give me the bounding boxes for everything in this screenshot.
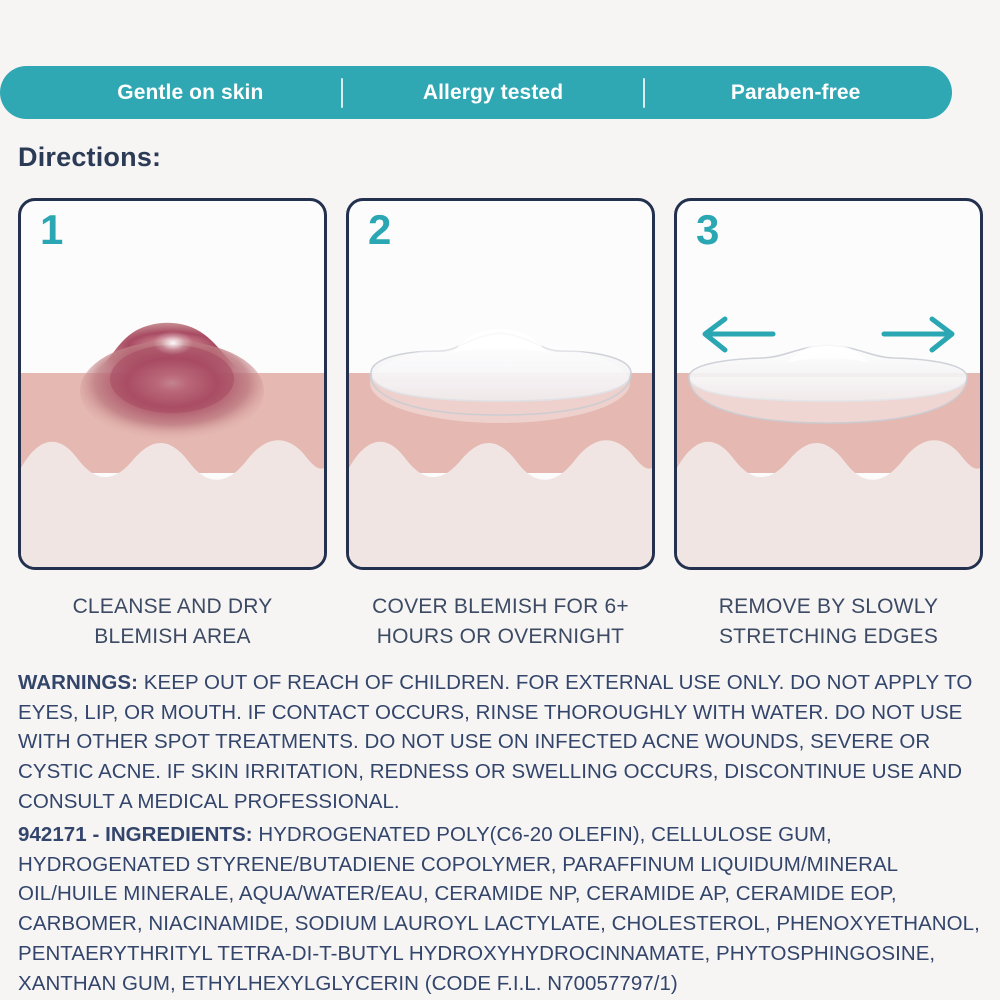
step-2-caption: COVER BLEMISH FOR 6+ HOURS OR OVERNIGHT bbox=[346, 592, 655, 652]
ingredients-label: 942171 - INGREDIENTS: bbox=[18, 823, 253, 846]
ingredients-paragraph: 942171 - INGREDIENTS: HYDROGENATED POLY(… bbox=[18, 820, 984, 998]
blemish-illustration bbox=[21, 201, 324, 567]
claims-banner: Gentle on skin Allergy tested Paraben-fr… bbox=[0, 66, 952, 119]
step-3-caption-line-1: REMOVE BY SLOWLY bbox=[719, 595, 939, 618]
step-3-number: 3 bbox=[696, 207, 719, 253]
step-2-caption-line-2: HOURS OR OVERNIGHT bbox=[377, 625, 624, 648]
warnings-paragraph: WARNINGS: KEEP OUT OF REACH OF CHILDREN.… bbox=[18, 668, 984, 817]
direction-step-3: 3 bbox=[674, 198, 983, 652]
stretch-arrows bbox=[677, 201, 980, 567]
step-2-number: 2 bbox=[368, 207, 391, 253]
step-3-caption-line-2: STRETCHING EDGES bbox=[719, 625, 938, 648]
claim-gentle-on-skin: Gentle on skin bbox=[40, 81, 341, 105]
step-1-caption-line-1: CLEANSE AND DRY bbox=[73, 595, 273, 618]
warnings-body: KEEP OUT OF REACH OF CHILDREN. FOR EXTER… bbox=[18, 671, 972, 813]
direction-step-2: 2 bbox=[346, 198, 655, 652]
step-3-illustration-card: 3 bbox=[674, 198, 983, 570]
claim-allergy-tested: Allergy tested bbox=[343, 81, 644, 105]
hydrocolloid-patch-illustration bbox=[349, 201, 652, 567]
step-1-caption: CLEANSE AND DRY BLEMISH AREA bbox=[18, 592, 327, 652]
directions-steps-row: 1 bbox=[18, 198, 982, 652]
step-2-illustration-card: 2 bbox=[346, 198, 655, 570]
step-3-caption: REMOVE BY SLOWLY STRETCHING EDGES bbox=[674, 592, 983, 652]
ingredients-body: HYDROGENATED POLY(C6-20 OLEFIN), CELLULO… bbox=[18, 823, 980, 995]
step-2-caption-line-1: COVER BLEMISH FOR 6+ bbox=[372, 595, 629, 618]
claim-paraben-free: Paraben-free bbox=[645, 81, 946, 105]
warnings-label: WARNINGS: bbox=[18, 671, 138, 694]
step-1-illustration-card: 1 bbox=[18, 198, 327, 570]
step-1-number: 1 bbox=[40, 207, 63, 253]
step-1-caption-line-2: BLEMISH AREA bbox=[94, 625, 250, 648]
directions-heading: Directions: bbox=[18, 142, 161, 173]
direction-step-1: 1 bbox=[18, 198, 327, 652]
